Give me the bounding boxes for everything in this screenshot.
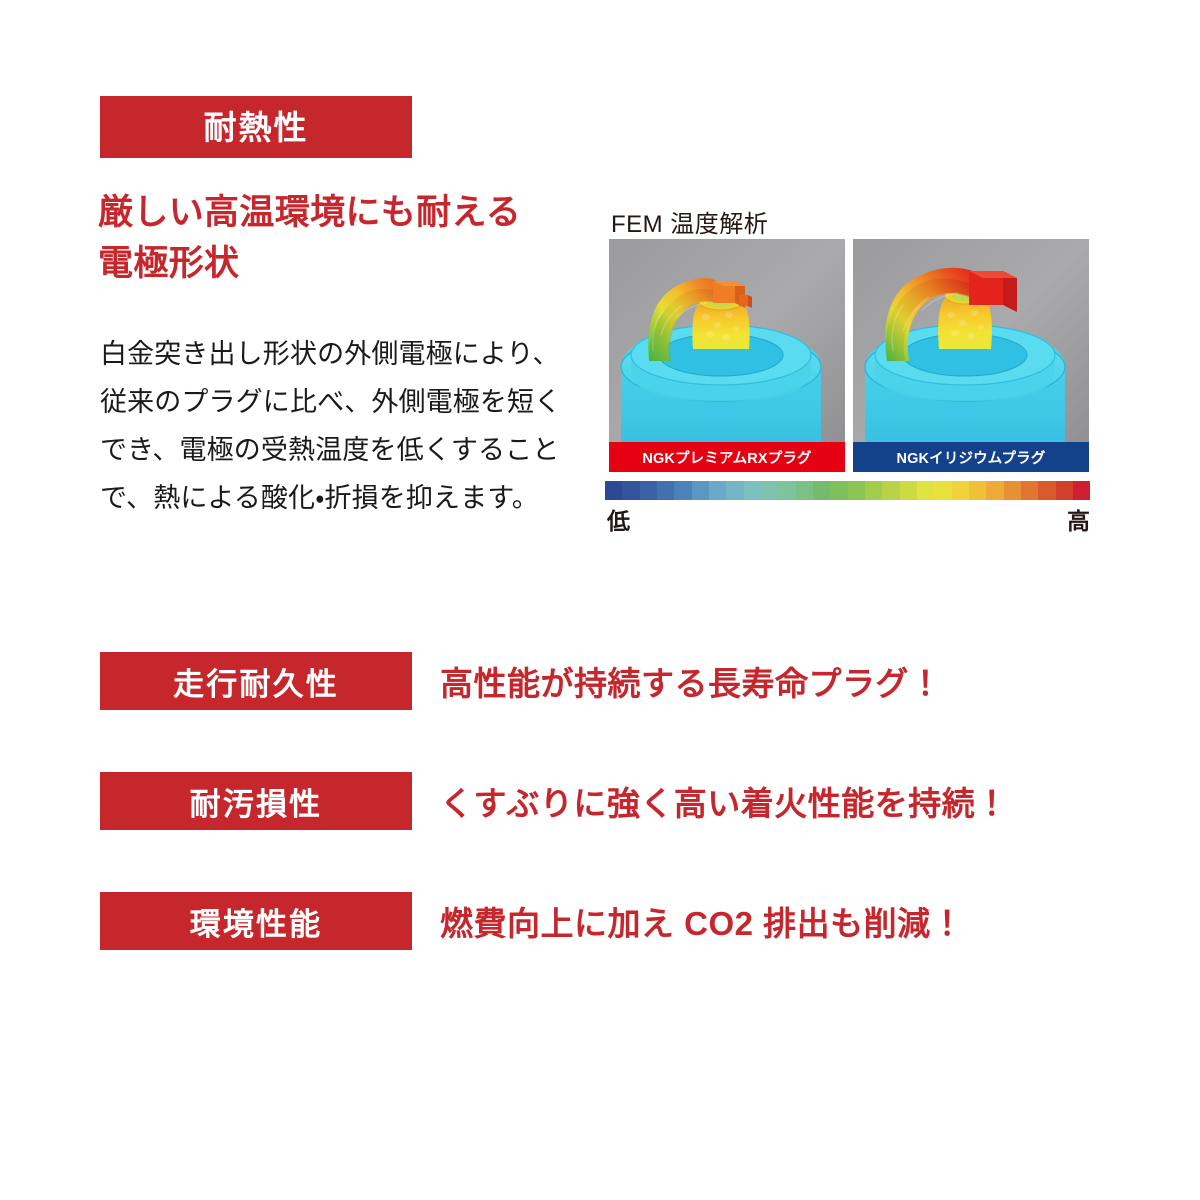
color-scale-swatch xyxy=(657,481,674,500)
fem-panel-caption: NGKイリジウムプラグ xyxy=(853,442,1089,472)
section-badge-heat-resistance: 耐熱性 xyxy=(100,96,412,158)
feature-badge: 耐汚損性 xyxy=(100,772,412,830)
color-scale-swatch xyxy=(605,481,622,500)
color-scale-swatch xyxy=(726,481,743,500)
feature-badge-label: 環境性能 xyxy=(190,899,323,944)
color-scale-swatch xyxy=(622,481,639,500)
color-scale-swatch xyxy=(709,481,726,500)
fem-analysis-panels: NGKプレミアムRXプラグ xyxy=(609,239,1090,472)
color-scale-swatch xyxy=(830,481,847,500)
body-line-1: 白金突き出し形状の外側電極により、 xyxy=(100,330,580,378)
feature-description: 高性能が持続する長寿命プラグ！ xyxy=(440,657,942,705)
feature-badge: 走行耐久性 xyxy=(100,652,412,710)
color-scale-swatch xyxy=(1004,481,1021,500)
scale-label-high: 高 xyxy=(1067,502,1090,536)
color-scale-swatch xyxy=(952,481,969,500)
color-scale-swatch xyxy=(744,481,761,500)
feature-row-environmental-performance: 環境性能 燃費向上に加え CO2 排出も削減！ xyxy=(100,892,1100,950)
color-scale-swatch xyxy=(796,481,813,500)
fem-panel-premium-rx: NGKプレミアムRXプラグ xyxy=(609,239,845,472)
feature-description: 燃費向上に加え CO2 排出も削減！ xyxy=(440,897,964,945)
color-scale-swatch xyxy=(1056,481,1073,500)
feature-badge-label: 耐汚損性 xyxy=(190,779,323,824)
heat-resistance-heading: 厳しい高温環境にも耐える 電極形状 xyxy=(98,188,598,290)
color-scale-swatch xyxy=(934,481,951,500)
fem-thermal-render-premium-rx xyxy=(609,239,845,472)
color-scale-swatch xyxy=(1073,481,1090,500)
feature-description: くすぶりに強く高い着火性能を持続！ xyxy=(440,777,1009,825)
fem-panel-caption: NGKプレミアムRXプラグ xyxy=(609,442,845,472)
heat-resistance-body: 白金突き出し形状の外側電極により、 従来のプラグに比べ、外側電極を短く でき、電… xyxy=(100,330,580,522)
badge-label: 耐熱性 xyxy=(204,111,309,144)
fem-panel-iridium: NGKイリジウムプラグ xyxy=(853,239,1089,472)
body-line-3: でき、電極の受熱温度を低くすること xyxy=(100,426,580,474)
color-scale-swatch xyxy=(1038,481,1055,500)
scale-label-low: 低 xyxy=(607,502,630,536)
color-scale-swatch xyxy=(882,481,899,500)
fem-analysis-title: FEM 温度解析 xyxy=(611,204,768,239)
infographic-page: 耐熱性 厳しい高温環境にも耐える 電極形状 白金突き出し形状の外側電極により、 … xyxy=(0,0,1200,1200)
color-scale-swatch xyxy=(900,481,917,500)
color-scale-swatch xyxy=(674,481,691,500)
feature-badge-label: 走行耐久性 xyxy=(173,659,339,704)
heading-line-2: 電極形状 xyxy=(98,239,598,290)
color-scale-swatch xyxy=(865,481,882,500)
color-scale-swatch xyxy=(813,481,830,500)
color-scale-bar xyxy=(605,481,1090,500)
color-scale-swatch xyxy=(1021,481,1038,500)
color-scale-swatch xyxy=(917,481,934,500)
heading-line-1: 厳しい高温環境にも耐える xyxy=(98,188,598,239)
color-scale-swatch xyxy=(692,481,709,500)
color-scale-labels: 低 高 xyxy=(605,502,1090,532)
body-line-4: で、熱による酸化・折損を抑えます。 xyxy=(100,474,580,522)
feature-row-driving-durability: 走行耐久性 高性能が持続する長寿命プラグ！ xyxy=(100,652,1100,710)
color-scale-swatch xyxy=(640,481,657,500)
feature-badge: 環境性能 xyxy=(100,892,412,950)
feature-row-fouling-resistance: 耐汚損性 くすぶりに強く高い着火性能を持続！ xyxy=(100,772,1100,830)
fem-thermal-render-iridium xyxy=(853,239,1089,472)
color-scale-swatch xyxy=(969,481,986,500)
color-scale-swatch xyxy=(778,481,795,500)
color-scale-swatch xyxy=(761,481,778,500)
color-scale-swatch xyxy=(986,481,1003,500)
temperature-color-scale: 低 高 xyxy=(605,481,1090,532)
body-line-2: 従来のプラグに比べ、外側電極を短く xyxy=(100,378,580,426)
color-scale-swatch xyxy=(848,481,865,500)
